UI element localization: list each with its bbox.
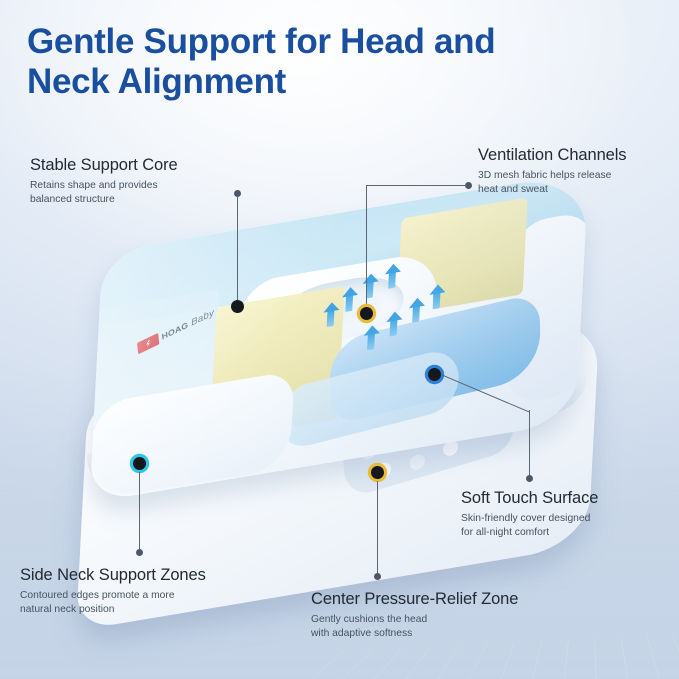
leader-line-side-neck-support — [139, 472, 140, 550]
callout-center-pressure-relief-zone: Center Pressure-Relief Zone Gently cushi… — [311, 590, 518, 640]
callout-description-line-2: with adaptive softness — [311, 627, 518, 641]
callout-description: Retains shape and provides balanced stru… — [30, 179, 178, 206]
callout-heading: Soft Touch Surface — [461, 489, 598, 508]
leader-tip-side-neck-support-zones — [136, 549, 143, 556]
leader-line-stable-support-core — [237, 196, 238, 306]
leader-line-center-pressure-relief — [377, 481, 378, 574]
callout-description-line-2: heat and sweat — [478, 183, 626, 197]
callout-description-line-1: Skin-friendly cover designed — [461, 512, 598, 526]
callout-description-line-1: Gently cushions the head — [311, 613, 518, 627]
callout-description: Contoured edges promote a more natural n… — [20, 589, 206, 616]
callout-description-line-1: Retains shape and provides — [30, 179, 178, 193]
callout-description: Skin-friendly cover designed for all-nig… — [461, 512, 598, 539]
callout-ventilation-channels: Ventilation Channels 3D mesh fabric help… — [478, 146, 626, 196]
callout-description-line-2: natural neck position — [20, 603, 206, 617]
callout-description-line-1: 3D mesh fabric helps release — [478, 169, 626, 183]
marker-ventilation-channels — [360, 307, 373, 320]
page-title-line-2: Neck Alignment — [27, 62, 627, 102]
page-title-line-1: Gentle Support for Head and — [27, 22, 627, 62]
infographic-canvas: Gentle Support for Head and Neck Alignme… — [0, 0, 679, 679]
page-title: Gentle Support for Head and Neck Alignme… — [27, 22, 627, 103]
marker-center-pressure-relief-zone — [371, 466, 384, 479]
marker-soft-touch-surface — [428, 368, 441, 381]
callout-side-neck-support-zones: Side Neck Support Zones Contoured edges … — [20, 566, 206, 616]
callout-soft-touch-surface: Soft Touch Surface Skin-friendly cover d… — [461, 489, 598, 539]
callout-description: 3D mesh fabric helps release heat and sw… — [478, 169, 626, 196]
callout-heading: Center Pressure-Relief Zone — [311, 590, 518, 609]
callout-description: Gently cushions the head with adaptive s… — [311, 613, 518, 640]
callout-heading: Ventilation Channels — [478, 146, 626, 165]
leader-tip-soft-touch-surface — [526, 475, 533, 482]
leader-line-ventilation-vertical — [366, 185, 367, 313]
callout-description-line-2: for all-night comfort — [461, 526, 598, 540]
marker-stable-support-core — [231, 300, 244, 313]
callout-heading: Side Neck Support Zones — [20, 566, 206, 585]
callout-heading: Stable Support Core — [30, 156, 178, 175]
leader-tip-center-pressure-relief-zone — [374, 573, 381, 580]
leader-line-soft-touch-vertical — [529, 410, 530, 477]
callout-description-line-2: balanced structure — [30, 193, 178, 207]
callout-description-line-1: Contoured edges promote a more — [20, 589, 206, 603]
leader-line-ventilation-horizontal — [366, 185, 467, 186]
marker-side-neck-support-zones — [133, 457, 146, 470]
callout-stable-support-core: Stable Support Core Retains shape and pr… — [30, 156, 178, 206]
